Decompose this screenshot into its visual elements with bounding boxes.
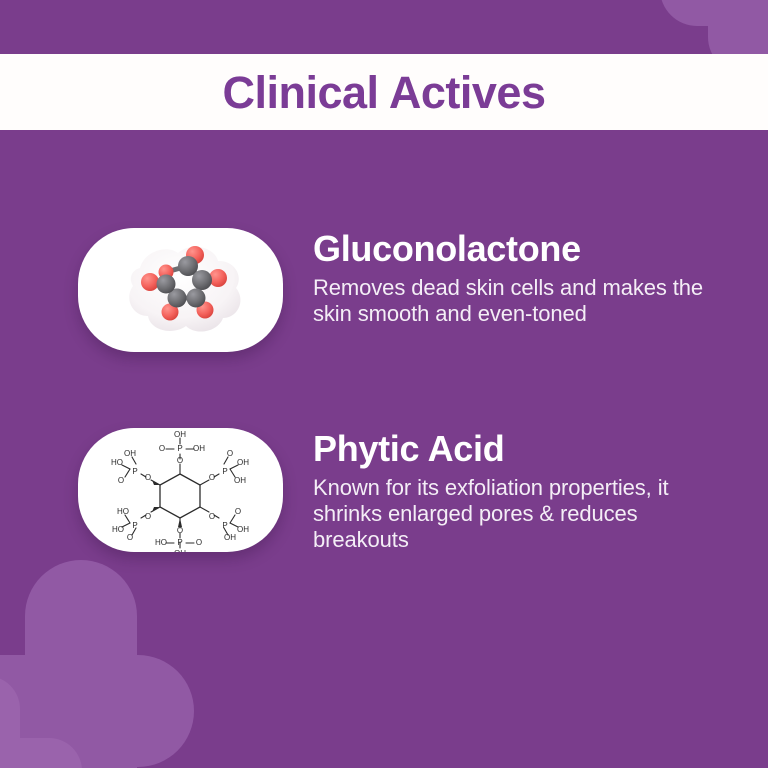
svg-text:P: P [132, 467, 137, 476]
cross-bottom-left-small-icon [0, 676, 82, 768]
svg-text:OH: OH [174, 549, 186, 552]
molecule-3d-ball-and-stick-icon [78, 228, 283, 352]
atom-oxygen [141, 273, 159, 291]
molecule-structural-formula-icon: OH P OH O O P OH OH O O P OH O [78, 428, 283, 552]
svg-text:P: P [177, 444, 182, 453]
ingredient-name: Phytic Acid [313, 430, 713, 469]
svg-text:HO: HO [111, 458, 123, 467]
cross-vertical-bar [25, 560, 137, 768]
svg-text:OH: OH [237, 458, 249, 467]
ingredient-text: Gluconolactone Removes dead skin cells a… [313, 228, 713, 327]
svg-text:O: O [227, 449, 233, 458]
header-band: Clinical Actives [0, 54, 768, 130]
svg-text:OH: OH [237, 525, 249, 534]
svg-text:OH: OH [124, 449, 136, 458]
svg-text:HO: HO [112, 525, 124, 534]
list-item: Gluconolactone Removes dead skin cells a… [0, 228, 768, 352]
stereo-wedges [152, 480, 182, 527]
page-title: Clinical Actives [223, 70, 546, 115]
cross-horizontal-bar [0, 655, 194, 767]
ingredient-icon-card [78, 228, 283, 352]
structure-labels: OH P OH O O P OH OH O O P OH O [111, 430, 249, 552]
atom-carbon [157, 275, 176, 294]
svg-text:OH: OH [234, 476, 246, 485]
svg-text:P: P [222, 467, 227, 476]
poster-canvas: Clinical Actives [0, 0, 768, 768]
svg-text:HO: HO [117, 507, 129, 516]
svg-text:P: P [222, 521, 227, 530]
svg-text:P: P [132, 521, 137, 530]
ingredient-description: Known for its exfoliation properties, it… [313, 475, 713, 553]
svg-text:O: O [127, 533, 133, 542]
svg-text:P: P [177, 538, 182, 547]
cross-horizontal-bar [0, 738, 82, 768]
svg-text:OH: OH [224, 533, 236, 542]
svg-text:O: O [196, 538, 202, 547]
ingredient-name: Gluconolactone [313, 230, 713, 269]
ingredient-text: Phytic Acid Known for its exfoliation pr… [313, 428, 713, 553]
atom-carbon [187, 289, 206, 308]
svg-text:O: O [177, 526, 183, 535]
ingredient-description: Removes dead skin cells and makes the sk… [313, 275, 713, 327]
ingredient-icon-card: OH P OH O O P OH OH O O P OH O [78, 428, 283, 552]
svg-text:O: O [159, 444, 165, 453]
svg-text:O: O [177, 456, 183, 465]
svg-text:O: O [145, 512, 151, 521]
svg-text:OH: OH [193, 444, 205, 453]
svg-text:O: O [235, 507, 241, 516]
cross-vertical-bar [0, 676, 20, 768]
svg-text:HO: HO [155, 538, 167, 547]
svg-text:OH: OH [174, 430, 186, 439]
cross-horizontal-bar [660, 0, 768, 26]
svg-text:O: O [145, 473, 151, 482]
svg-text:O: O [209, 473, 215, 482]
svg-text:O: O [118, 476, 124, 485]
list-item: OH P OH O O P OH OH O O P OH O [0, 428, 768, 553]
svg-text:O: O [209, 512, 215, 521]
cross-bottom-left-large-icon [0, 560, 194, 768]
atom-carbon [192, 270, 212, 290]
